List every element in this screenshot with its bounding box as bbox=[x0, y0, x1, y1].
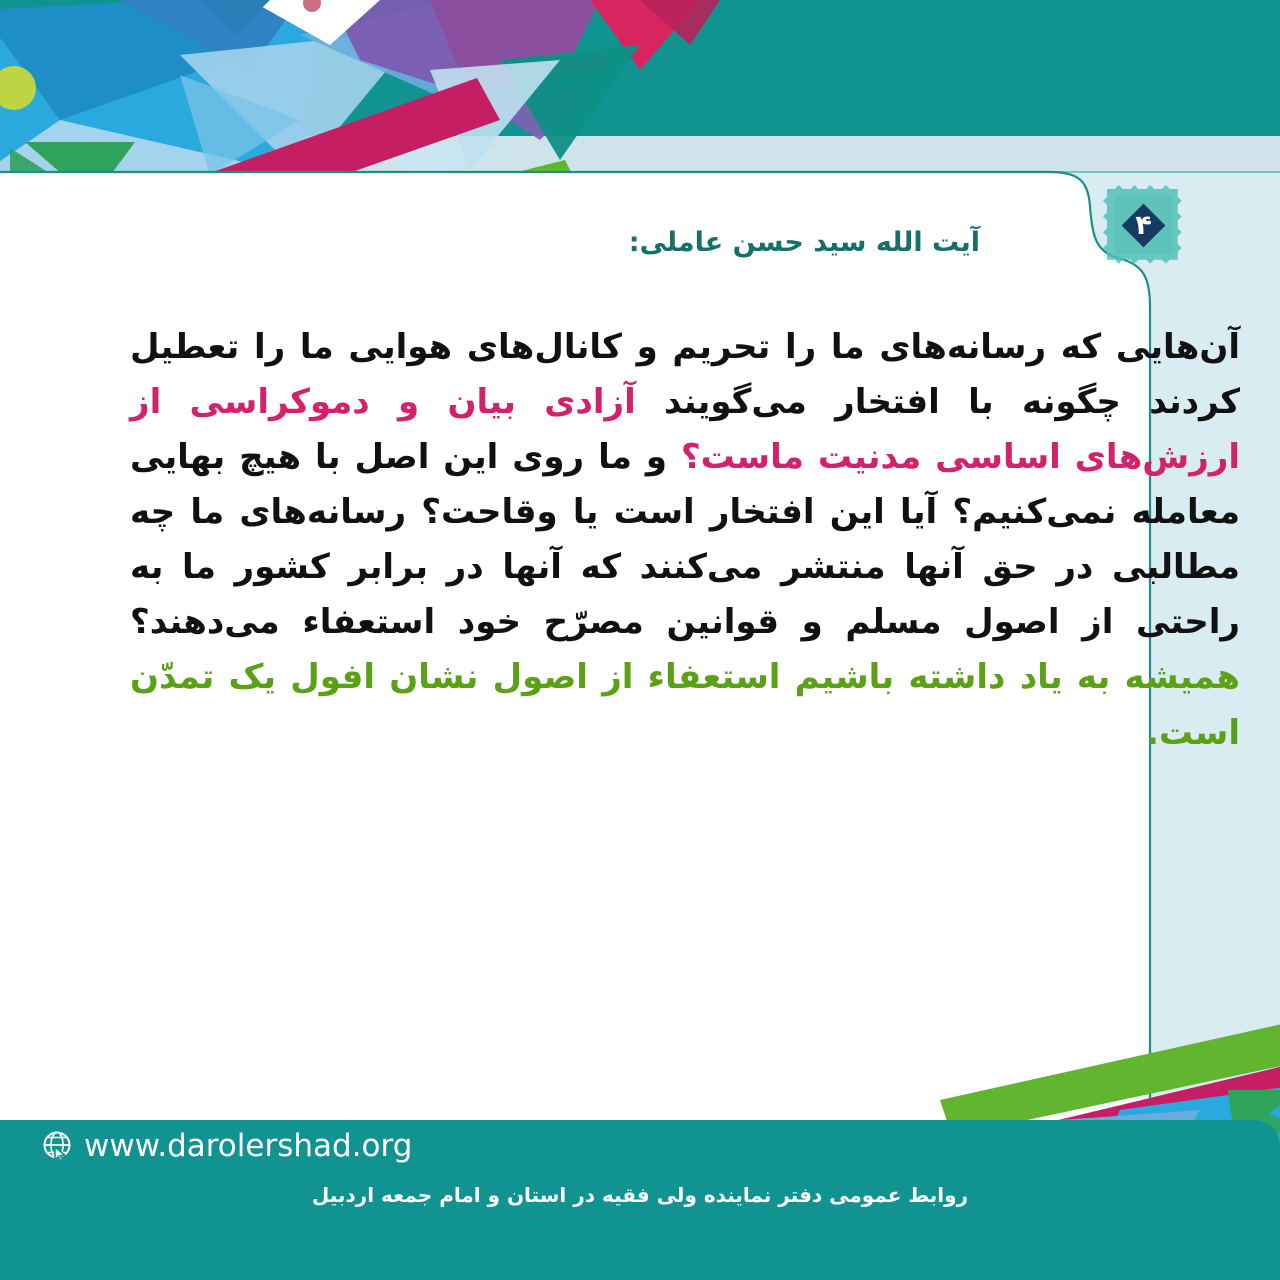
footer-website-url[interactable]: www.darolershad.org bbox=[84, 1128, 412, 1164]
page-number-value-wrap: ۴ bbox=[1101, 183, 1186, 268]
globe-cursor-icon bbox=[40, 1129, 76, 1165]
footer-organization: روابط عمومی دفتر نماینده ولی فقیه در است… bbox=[0, 1183, 1280, 1207]
page-number-value: ۴ bbox=[1101, 183, 1186, 268]
poster-canvas: ۴ آیت الله سید حسن عاملی: آن‌هایی که رسا… bbox=[0, 0, 1280, 1280]
quote-segment-4-highlight: همیشه به یاد داشته باشیم استعفاء از اصول… bbox=[130, 657, 1240, 752]
speaker-name: آیت الله سید حسن عاملی: bbox=[629, 227, 980, 258]
quote-body: آن‌هایی که رسانه‌های ما را تحریم و کانال… bbox=[130, 320, 1240, 761]
